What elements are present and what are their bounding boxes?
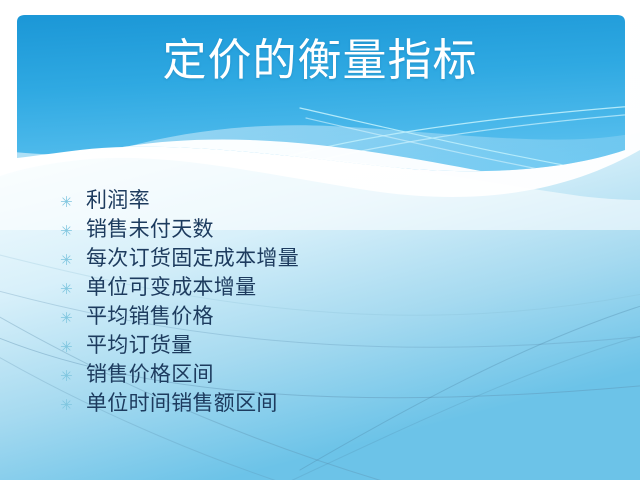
asterisk-bullet-icon: ✳ [60, 188, 86, 217]
list-item-label: 销售未付天数 [86, 215, 214, 244]
asterisk-bullet-icon: ✳ [60, 217, 86, 246]
list-item-label: 销售价格区间 [86, 360, 214, 389]
list-item: ✳ 销售价格区间 [60, 360, 600, 389]
list-item-label: 单位时间销售额区间 [86, 389, 278, 418]
list-item-label: 利润率 [86, 186, 150, 215]
list-item: ✳ 单位可变成本增量 [60, 273, 600, 302]
asterisk-bullet-icon: ✳ [60, 333, 86, 362]
asterisk-bullet-icon: ✳ [60, 275, 86, 304]
list-item: ✳ 平均销售价格 [60, 302, 600, 331]
asterisk-bullet-icon: ✳ [60, 246, 86, 275]
list-item-label: 单位可变成本增量 [86, 273, 256, 302]
list-item-label: 每次订货固定成本增量 [86, 244, 299, 273]
presentation-slide: 定价的衡量指标 ✳ 利润率 ✳ 销售未付天数 ✳ 每次订货固定成本增量 ✳ 单位… [0, 0, 640, 480]
bullet-list: ✳ 利润率 ✳ 销售未付天数 ✳ 每次订货固定成本增量 ✳ 单位可变成本增量 ✳… [60, 186, 600, 418]
list-item: ✳ 销售未付天数 [60, 215, 600, 244]
list-item-label: 平均销售价格 [86, 302, 214, 331]
asterisk-bullet-icon: ✳ [60, 391, 86, 420]
list-item: ✳ 平均订货量 [60, 331, 600, 360]
asterisk-bullet-icon: ✳ [60, 304, 86, 333]
list-item-label: 平均订货量 [86, 331, 193, 360]
list-item: ✳ 单位时间销售额区间 [60, 389, 600, 418]
list-item: ✳ 每次订货固定成本增量 [60, 244, 600, 273]
list-item: ✳ 利润率 [60, 186, 600, 215]
asterisk-bullet-icon: ✳ [60, 362, 86, 391]
